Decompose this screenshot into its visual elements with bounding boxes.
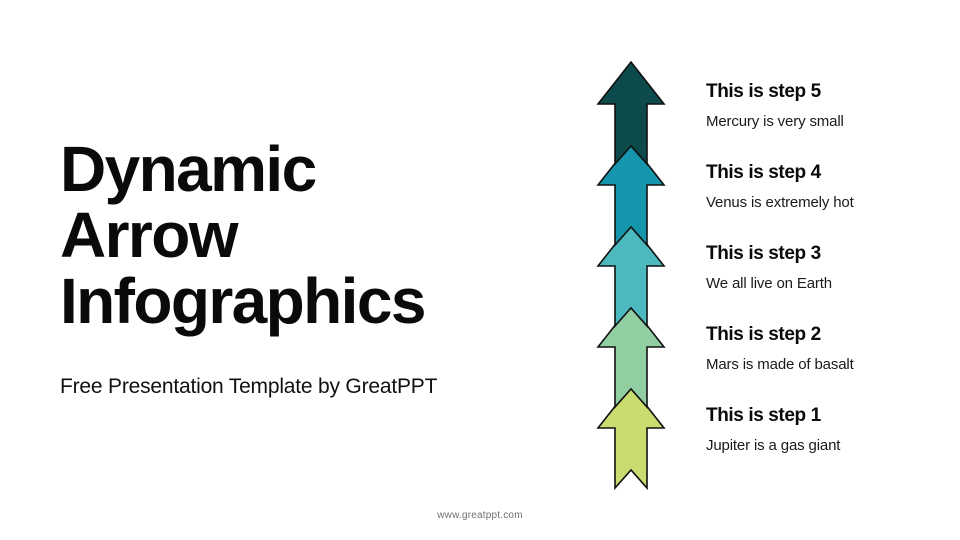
slide-canvas: Dynamic Arrow Infographics Free Presenta…	[0, 0, 960, 540]
step-description: Mercury is very small	[706, 112, 960, 132]
step-title: This is step 4	[706, 161, 960, 185]
title-line-2: Arrow	[60, 202, 560, 268]
arrow-step-1	[598, 386, 664, 488]
footer-watermark: www.greatppt.com	[0, 510, 960, 521]
page-title: Dynamic Arrow Infographics	[60, 136, 560, 334]
list-item-step-5[interactable]: This is step 5 Mercury is very small	[706, 80, 960, 132]
list-item-step-2[interactable]: This is step 2 Mars is made of basalt	[706, 323, 960, 375]
title-line-3: Infographics	[60, 268, 560, 334]
step-description: We all live on Earth	[706, 274, 960, 294]
arrow-stack-graphic	[575, 50, 690, 500]
step-description: Jupiter is a gas giant	[706, 436, 960, 456]
step-title: This is step 5	[706, 80, 960, 104]
step-description: Mars is made of basalt	[706, 355, 960, 375]
subtitle: Free Presentation Template by GreatPPT	[60, 375, 437, 399]
title-line-1: Dynamic	[60, 136, 560, 202]
step-title: This is step 3	[706, 242, 960, 266]
step-description: Venus is extremely hot	[706, 193, 960, 213]
list-item-step-1[interactable]: This is step 1 Jupiter is a gas giant	[706, 404, 960, 456]
step-list: This is step 5 Mercury is very small Thi…	[706, 0, 960, 540]
list-item-step-4[interactable]: This is step 4 Venus is extremely hot	[706, 161, 960, 213]
list-item-step-3[interactable]: This is step 3 We all live on Earth	[706, 242, 960, 294]
step-title: This is step 1	[706, 404, 960, 428]
step-title: This is step 2	[706, 323, 960, 347]
